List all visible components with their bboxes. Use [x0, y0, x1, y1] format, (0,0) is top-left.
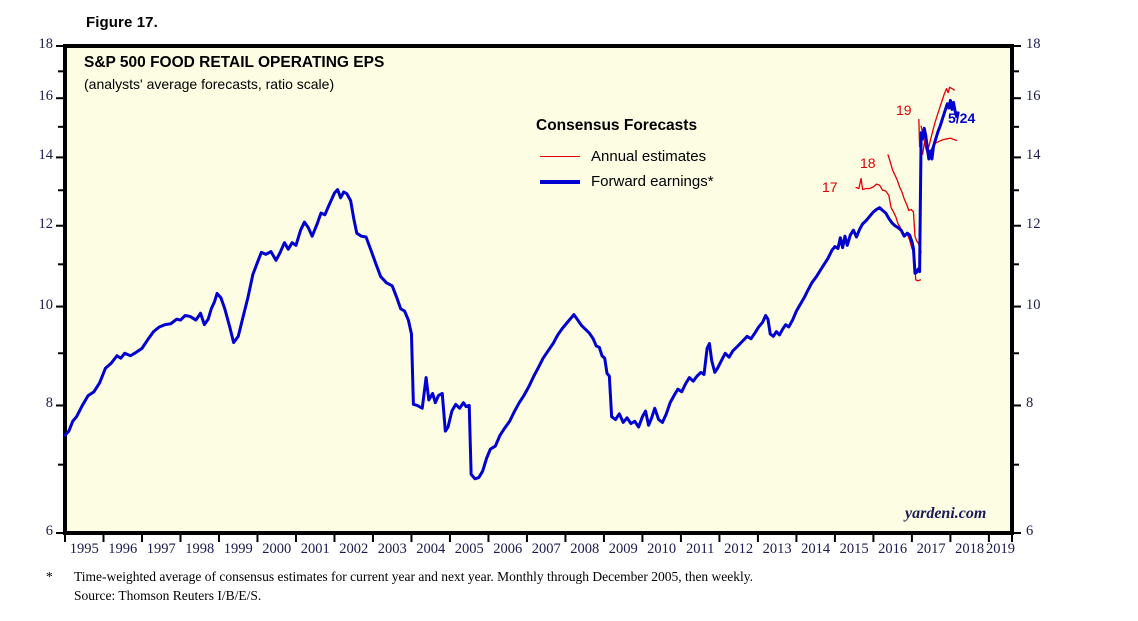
y-axis-label-right: 8: [1026, 395, 1033, 412]
footnote-source: Source: Thomson Reuters I/B/E/S.: [74, 586, 261, 606]
chart-page: Figure 17. S&P 500 FOOD RETAIL OPERATING…: [0, 0, 1138, 621]
y-axis-label-left: 16: [20, 88, 53, 105]
legend-label-annual-estimates: Annual estimates: [591, 148, 706, 165]
y-axis-label-right: 16: [1026, 88, 1041, 105]
chart-area: [0, 0, 1138, 621]
legend-item-forward-earnings: Forward earnings*: [536, 169, 714, 194]
y-axis-label-left: 8: [20, 395, 53, 412]
legend-title: Consensus Forecasts: [536, 117, 714, 135]
footnote-marker: *: [46, 567, 53, 587]
y-axis-label-right: 6: [1026, 523, 1033, 540]
x-axis-label: 2019: [975, 541, 1025, 558]
y-axis-label-left: 14: [20, 147, 53, 164]
legend-swatch-forward-earnings: [540, 180, 580, 184]
y-axis-label-left: 10: [20, 297, 53, 314]
legend-item-annual-estimates: Annual estimates: [536, 144, 714, 169]
annotation-17: 17: [822, 179, 838, 195]
y-axis-label-left: 18: [20, 36, 53, 53]
y-axis-label-right: 14: [1026, 147, 1041, 164]
chart-title: S&P 500 FOOD RETAIL OPERATING EPS: [84, 54, 384, 72]
chart-subtitle: (analysts' average forecasts, ratio scal…: [84, 76, 334, 92]
footnote-line-1: Time-weighted average of consensus estim…: [74, 567, 753, 587]
y-axis-label-right: 18: [1026, 36, 1041, 53]
y-axis-label-right: 12: [1026, 216, 1041, 233]
annotation-18: 18: [860, 155, 876, 171]
annotation-19: 19: [896, 102, 912, 118]
y-axis-label-left: 6: [20, 523, 53, 540]
y-axis-label-left: 12: [20, 216, 53, 233]
legend-label-forward-earnings: Forward earnings*: [591, 173, 714, 190]
chart-legend: Consensus Forecasts Annual estimates For…: [536, 117, 714, 194]
annotation-latest-date: 5/24: [948, 110, 975, 126]
eps-line-chart: [0, 0, 1138, 621]
legend-swatch-annual-estimates: [540, 156, 580, 157]
watermark: yardeni.com: [905, 505, 986, 523]
y-axis-label-right: 10: [1026, 297, 1041, 314]
